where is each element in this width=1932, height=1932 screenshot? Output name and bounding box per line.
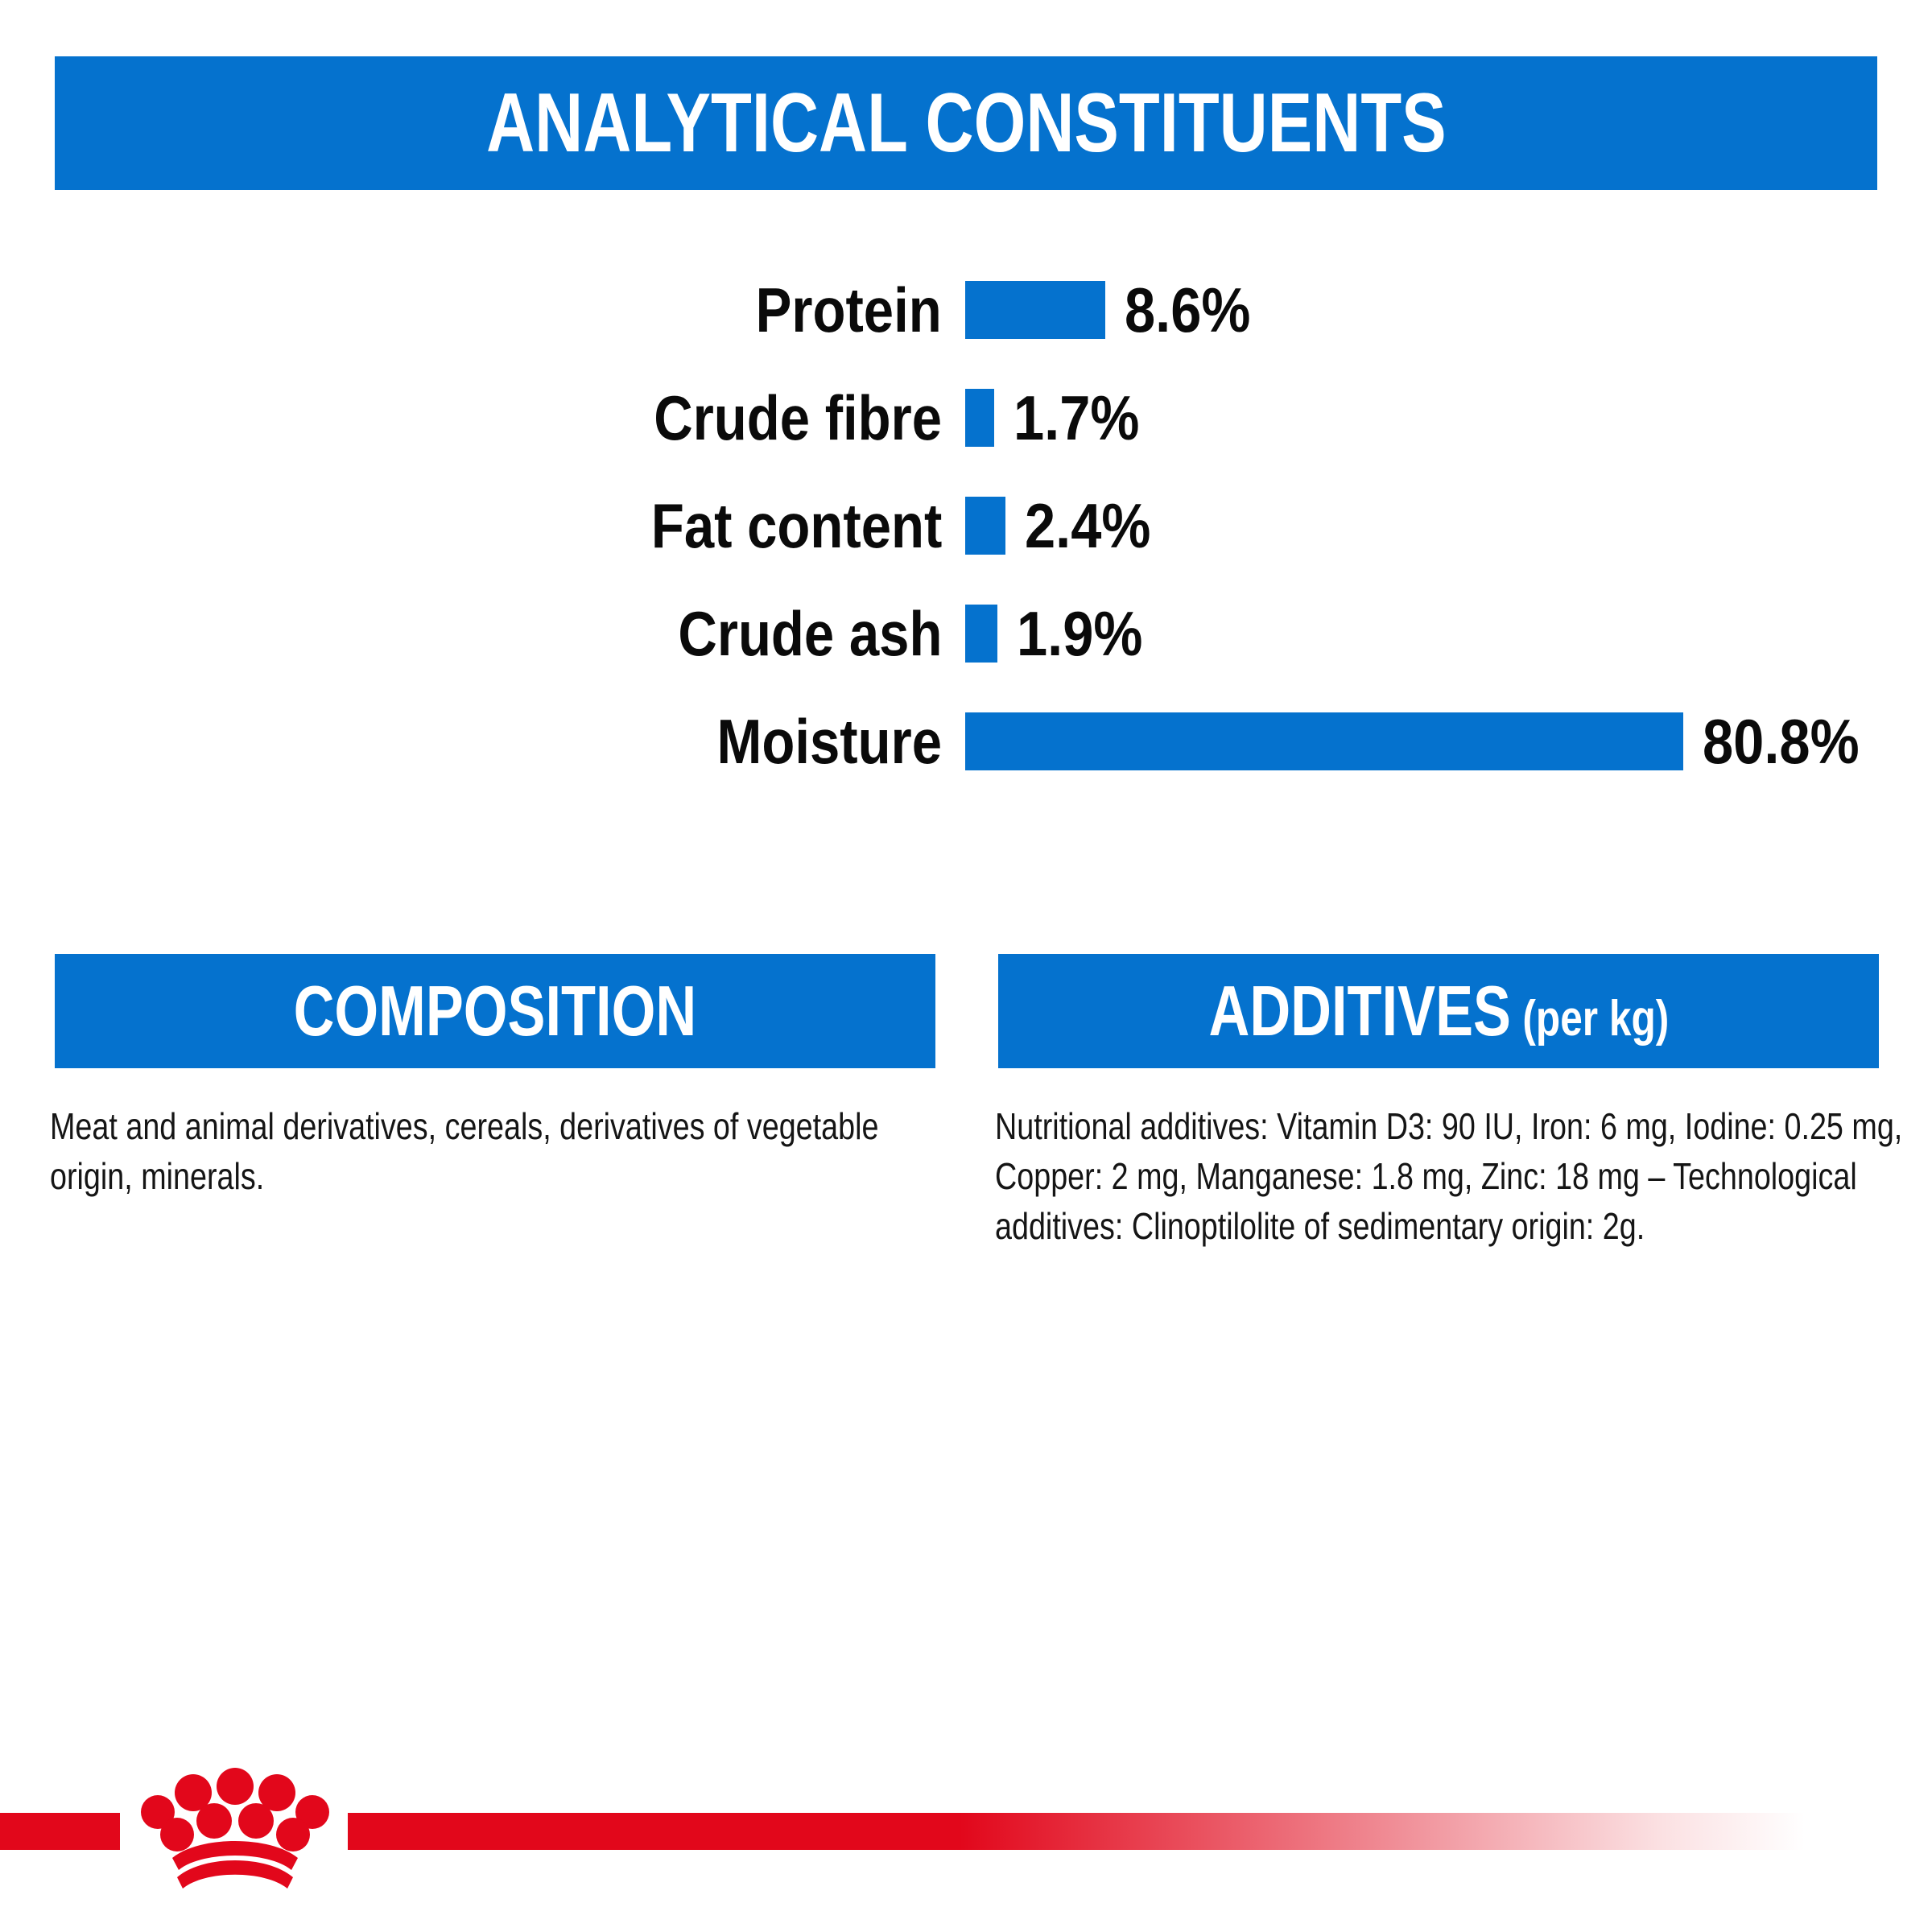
chart-row-label: Moisture bbox=[716, 687, 942, 795]
chart-bar bbox=[965, 605, 997, 663]
analytical-constituents-banner: ANALYTICAL CONSTITUENTS bbox=[55, 56, 1877, 190]
chart-row: Protein8.6% bbox=[0, 256, 1932, 364]
chart-value-label: 80.8% bbox=[1703, 687, 1860, 795]
composition-banner: COMPOSITION bbox=[55, 954, 935, 1068]
chart-bar bbox=[965, 497, 1005, 555]
composition-body-text: Meat and animal derivatives, cereals, de… bbox=[50, 1101, 908, 1201]
chart-row-label: Crude fibre bbox=[654, 364, 942, 472]
chart-row: Moisture80.8% bbox=[0, 687, 1932, 795]
additives-subtitle: (per kg) bbox=[1522, 994, 1669, 1044]
chart-row-label: Fat content bbox=[651, 472, 942, 580]
footer-rule-left bbox=[0, 1813, 120, 1850]
chart-row: Crude ash1.9% bbox=[0, 580, 1932, 687]
chart-bar bbox=[965, 281, 1105, 339]
chart-row-label: Crude ash bbox=[678, 580, 942, 687]
additives-body-text: Nutritional additives: Vitamin D3: 90 IU… bbox=[995, 1101, 1932, 1251]
chart-value-label: 1.9% bbox=[1017, 580, 1142, 687]
chart-bar-group: 1.9% bbox=[965, 580, 1160, 687]
chart-bar-group: 2.4% bbox=[965, 472, 1168, 580]
chart-bar-group: 1.7% bbox=[965, 364, 1157, 472]
chart-row: Crude fibre1.7% bbox=[0, 364, 1932, 472]
analytical-constituents-title: ANALYTICAL CONSTITUENTS bbox=[486, 81, 1447, 165]
chart-row-label: Protein bbox=[756, 256, 942, 364]
analytical-constituents-chart: Protein8.6%Crude fibre1.7%Fat content2.4… bbox=[0, 256, 1932, 795]
chart-value-label: 1.7% bbox=[1013, 364, 1139, 472]
chart-value-label: 2.4% bbox=[1025, 472, 1150, 580]
chart-bar bbox=[965, 712, 1683, 770]
chart-bar-group: 80.8% bbox=[965, 687, 1880, 795]
chart-value-label: 8.6% bbox=[1125, 256, 1250, 364]
royal-canin-crown-icon bbox=[131, 1768, 339, 1897]
chart-row: Fat content2.4% bbox=[0, 472, 1932, 580]
footer-rule-right bbox=[348, 1813, 1805, 1850]
composition-title: COMPOSITION bbox=[294, 976, 697, 1046]
additives-title: ADDITIVES bbox=[1208, 976, 1511, 1046]
chart-bar-group: 8.6% bbox=[965, 256, 1268, 364]
additives-banner: ADDITIVES (per kg) bbox=[998, 954, 1879, 1068]
chart-bar bbox=[965, 389, 994, 447]
additives-title-group: ADDITIVES (per kg) bbox=[1208, 976, 1669, 1046]
